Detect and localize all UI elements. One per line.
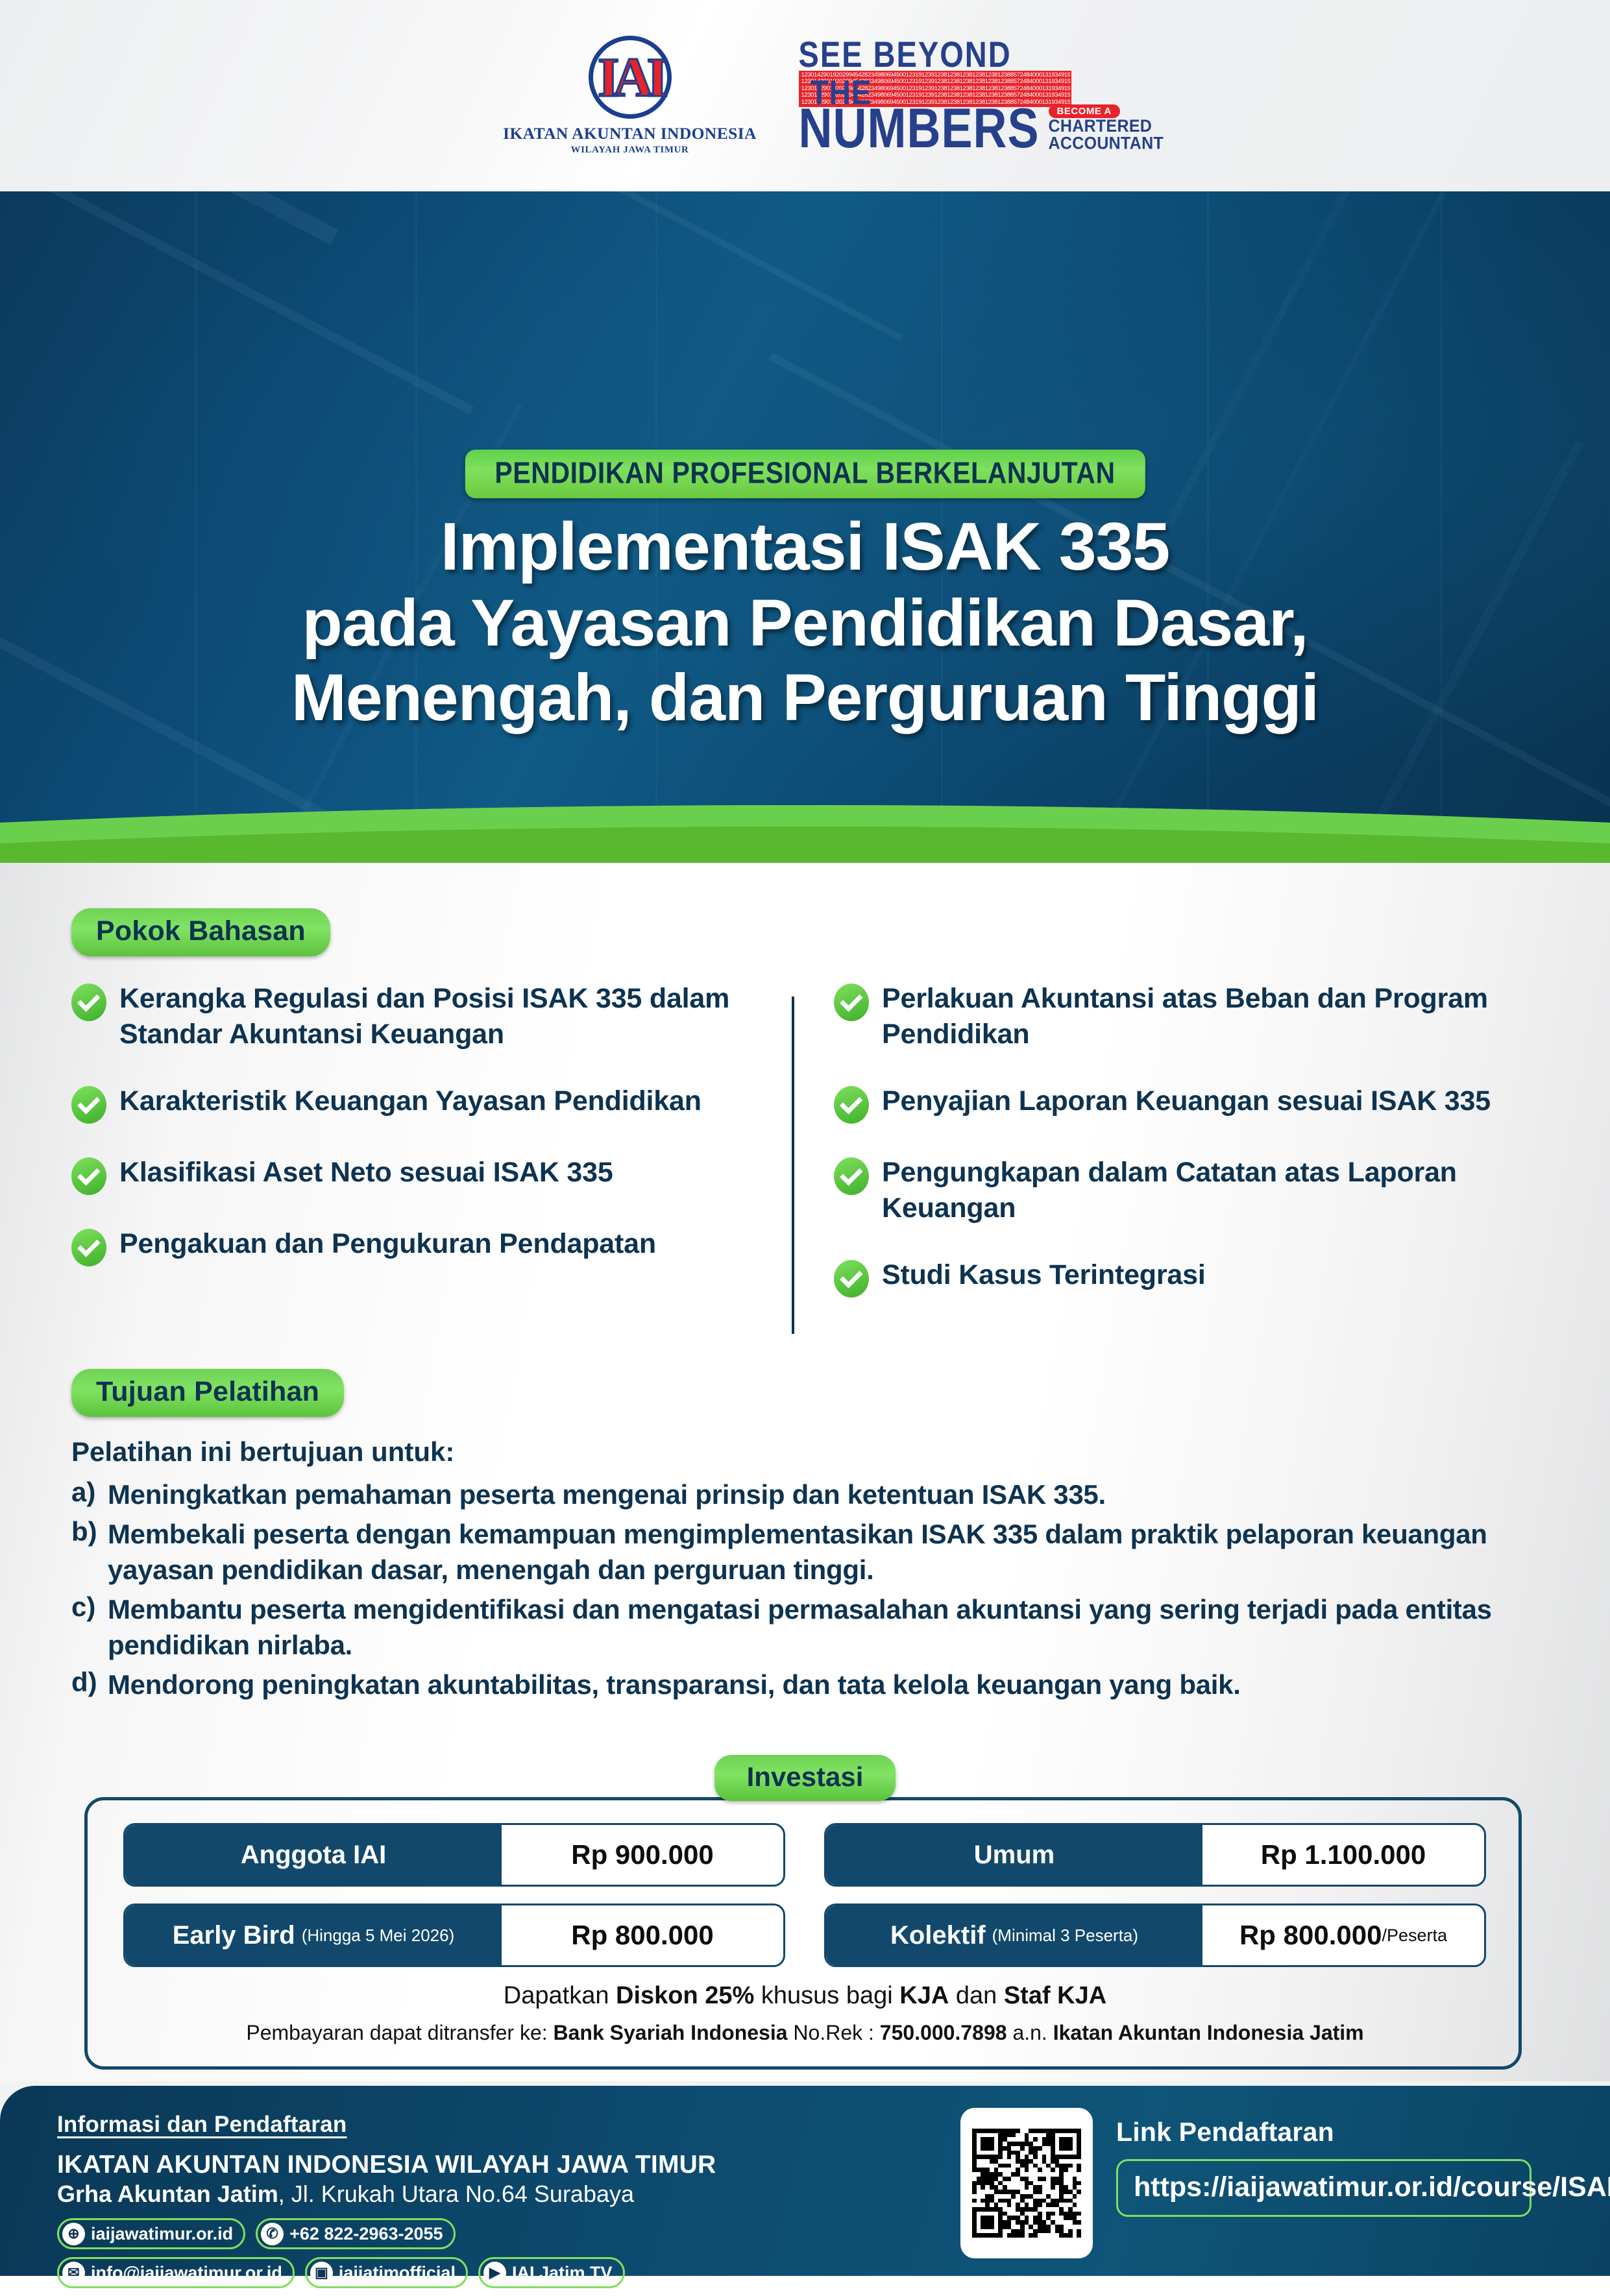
pokok-bahasan-heading-badge: Pokok Bahasan [71,908,330,956]
contact-chip-label: IAI Jatim TV [512,2263,613,2283]
list-item: Kerangka Regulasi dan Posisi ISAK 335 da… [71,981,775,1052]
price-label-note: (Hingga 5 Mei 2026) [302,1926,455,1946]
price-row: Anggota IAI Rp 900.000 Umum Rp 1.100.000 [123,1823,1493,1887]
price-value-note: /Peserta [1382,1926,1447,1946]
pokok-column-left: Kerangka Regulasi dan Posisi ISAK 335 da… [71,981,775,1329]
discount-kja: KJA [899,1982,949,2009]
list-item-label: Mendorong peningkatan akuntabilitas, tra… [108,1667,1241,1702]
chartered-accountant-label: CHARTERED ACCOUNTANT [1049,118,1164,152]
payment-mid: No.Rek : [788,2021,880,2044]
pokok-bahasan-heading: Pokok Bahasan [96,915,306,947]
whatsapp-icon: ✆ [261,2223,284,2245]
price-label: Anggota IAI [241,1841,386,1870]
tujuan-heading: Tujuan Pelatihan [96,1376,319,1407]
list-item-label: Klasifikasi Aset Neto sesuai ISAK 335 [119,1155,613,1190]
payment-mid2: a.n. [1007,2021,1053,2044]
contact-chip-label: iaijawatimur.or.id [91,2224,233,2244]
hero-banner: PENDIDIKAN PROFESIONAL BERKELANJUTAN Imp… [0,191,1610,863]
list-item-label: Pengakuan dan Pengukuran Pendapatan [119,1226,656,1262]
instagram-icon: ▣ [310,2262,333,2284]
pokok-column-right: Perlakuan Akuntansi atas Beban dan Progr… [834,981,1538,1329]
check-circle-icon [71,984,106,1021]
discount-pre: Dapatkan [504,1982,616,2009]
registration-link[interactable]: https://iaijawatimur.or.id/course/ISAK33… [1116,2159,1531,2217]
price-cell: Anggota IAI Rp 900.000 [123,1823,785,1887]
price-label: Kolektif [890,1921,986,1950]
list-item: d) Mendorong peningkatan akuntabilitas, … [71,1667,1564,1702]
investasi-heading: Investasi [747,1761,864,1792]
title-line-3: Menengah, dan Perguruan Tinggi [39,660,1571,735]
youtube-icon: ▶ [483,2262,506,2284]
tujuan-pelatihan-section: Tujuan Pelatihan Pelatihan ini bertujuan… [71,1369,1564,1706]
price-table: Anggota IAI Rp 900.000 Umum Rp 1.100.000… [123,1823,1493,1984]
list-item: Pengakuan dan Pengukuran Pendapatan [71,1226,775,1266]
list-item-label: Membantu peserta mengidentifikasi dan me… [108,1591,1564,1663]
course-category-badge: PENDIDIKAN PROFESIONAL BERKELANJUTAN [465,450,1145,498]
link-heading: Link Pendaftaran [1116,2117,1531,2147]
price-label: Early Bird [173,1921,295,1950]
iai-logo: IAI IKATAN AKUNTAN INDONESIA WILAYAH JAW… [500,36,760,156]
iai-emblem-icon: IAI [589,36,672,119]
list-item-label: Kerangka Regulasi dan Posisi ISAK 335 da… [119,981,775,1052]
investasi-heading-badge: Investasi [714,1755,896,1801]
tujuan-heading-badge: Tujuan Pelatihan [71,1369,344,1417]
contact-chip-email[interactable]: ✉ info@iaijawatimur.or.id [57,2257,295,2288]
payment-pre: Pembayaran dapat ditransfer ke: [246,2021,553,2044]
price-cell: Kolektif(Minimal 3 Peserta) Rp 800.000/P… [824,1903,1486,1967]
list-item: Penyajian Laporan Keuangan sesuai ISAK 3… [834,1083,1538,1124]
pokok-bahasan-section: Pokok Bahasan Kerangka Regulasi dan Posi… [71,908,1557,1329]
contact-chip-label: iaijatimofficial [339,2263,456,2283]
contact-chip-label: +62 822-2963-2055 [289,2224,443,2244]
list-item-marker: d) [71,1667,108,1702]
list-item-label: Membekali peserta dengan kemampuan mengi… [108,1516,1564,1588]
list-item-marker: c) [71,1591,108,1663]
price-value: Rp 900.000 [571,1839,713,1870]
list-item: Karakteristik Keuangan Yayasan Pendidika… [71,1083,775,1124]
footer: Informasi dan Pendaftaran IKATAN AKUNTAN… [0,2086,1610,2276]
iai-monogram: IAI [598,49,662,105]
check-circle-icon [834,1260,869,1298]
list-item-label: Penyajian Laporan Keuangan sesuai ISAK 3… [882,1083,1491,1119]
list-item: Studi Kasus Terintegrasi [834,1257,1538,1298]
list-item-label: Studi Kasus Terintegrasi [882,1257,1206,1293]
course-category-label: PENDIDIKAN PROFESIONAL BERKELANJUTAN [494,456,1115,490]
footer-building: Grha Akuntan Jatim [57,2181,278,2207]
list-item-marker: b) [71,1516,108,1588]
contact-chip-whatsapp[interactable]: ✆ +62 822-2963-2055 [256,2218,455,2249]
price-value: Rp 1.100.000 [1261,1839,1426,1870]
check-circle-icon [71,1086,106,1124]
price-value: Rp 800.000 [1239,1920,1382,1951]
column-divider [792,997,794,1334]
price-value: Rp 800.000 [571,1920,713,1951]
check-circle-icon [71,1229,106,1266]
campaign-line-3: NUMBERS [799,104,1040,154]
contact-chip-label: info@iaijawatimur.or.id [91,2263,282,2283]
list-item: a) Meningkatkan pemahaman peserta mengen… [71,1477,1564,1512]
list-item: Klasifikasi Aset Neto sesuai ISAK 335 [71,1155,775,1195]
discount-note: Dapatkan Diskon 25% khusus bagi KJA dan … [0,1982,1610,2010]
title-line-2: pada Yayasan Pendidikan Dasar, [39,586,1571,660]
price-label: Umum [974,1841,1055,1870]
payment-bank: Bank Syariah Indonesia [554,2021,788,2044]
campaign-line-1: SEE BEYOND [799,37,1110,71]
see-beyond-the-numbers-logo: SEE BEYOND 12301429019202994542823498069… [799,37,1110,154]
discount-percent: Diskon 25% [616,1982,754,2009]
list-item: Perlakuan Akuntansi atas Beban dan Progr… [834,981,1538,1052]
discount-mid2: dan [949,1982,1004,2009]
iai-org-name: IKATAN AKUNTAN INDONESIA [503,124,757,143]
discount-mid: khusus bagi [754,1982,899,2009]
check-circle-icon [834,1086,869,1124]
footer-org-name: IKATAN AKUNTAN INDONESIA WILAYAH JAWA TI… [57,2151,716,2179]
discount-staf-kja: Staf KJA [1004,1982,1106,2009]
list-item: c) Membantu peserta mengidentifikasi dan… [71,1591,1564,1663]
list-item-label: Perlakuan Akuntansi atas Beban dan Progr… [882,981,1538,1052]
registration-qr-code[interactable] [960,2108,1093,2258]
page-title: Implementasi ISAK 335 pada Yayasan Pendi… [0,509,1610,735]
email-icon: ✉ [62,2262,85,2284]
footer-contact-chips: ⊕ iaijawatimur.or.id ✆ +62 822-2963-2055… [57,2218,716,2288]
check-circle-icon [834,984,869,1021]
list-item-label: Meningkatkan pemahaman peserta mengenai … [108,1477,1106,1512]
price-label-note: (Minimal 3 Peserta) [992,1926,1138,1946]
tujuan-lead-text: Pelatihan ini bertujuan untuk: [71,1436,1564,1468]
list-item-label: Karakteristik Keuangan Yayasan Pendidika… [119,1083,701,1119]
iai-region-name: WILAYAH JAWA TIMUR [571,145,689,156]
list-item-marker: a) [71,1477,108,1512]
contact-chip-instagram[interactable]: ▣ iaijatimofficial [305,2257,468,2288]
title-line-1: Implementasi ISAK 335 [39,509,1571,586]
globe-icon: ⊕ [62,2223,85,2245]
contact-chip-website[interactable]: ⊕ iaijawatimur.or.id [57,2218,245,2249]
footer-address: , Jl. Krukah Utara No.64 Surabaya [278,2181,634,2207]
check-circle-icon [834,1157,869,1195]
contact-chip-youtube[interactable]: ▶ IAI Jatim TV [478,2257,625,2288]
check-circle-icon [71,1157,106,1195]
payment-note: Pembayaran dapat ditransfer ke: Bank Sya… [0,2021,1610,2045]
price-cell: Umum Rp 1.100.000 [824,1823,1486,1887]
footer-heading: Informasi dan Pendaftaran [57,2112,716,2138]
header-logo-bar: IAI IKATAN AKUNTAN INDONESIA WILAYAH JAW… [0,0,1610,191]
list-item: Pengungkapan dalam Catatan atas Laporan … [834,1155,1538,1226]
list-item: b) Membekali peserta dengan kemampuan me… [71,1516,1564,1588]
price-row: Early Bird(Hingga 5 Mei 2026) Rp 800.000… [123,1903,1493,1967]
price-cell: Early Bird(Hingga 5 Mei 2026) Rp 800.000 [123,1903,785,1967]
payment-account-number: 750.000.7898 [880,2021,1007,2044]
payment-account-holder: Ikatan Akuntan Indonesia Jatim [1053,2021,1364,2044]
list-item-label: Pengungkapan dalam Catatan atas Laporan … [882,1155,1538,1226]
